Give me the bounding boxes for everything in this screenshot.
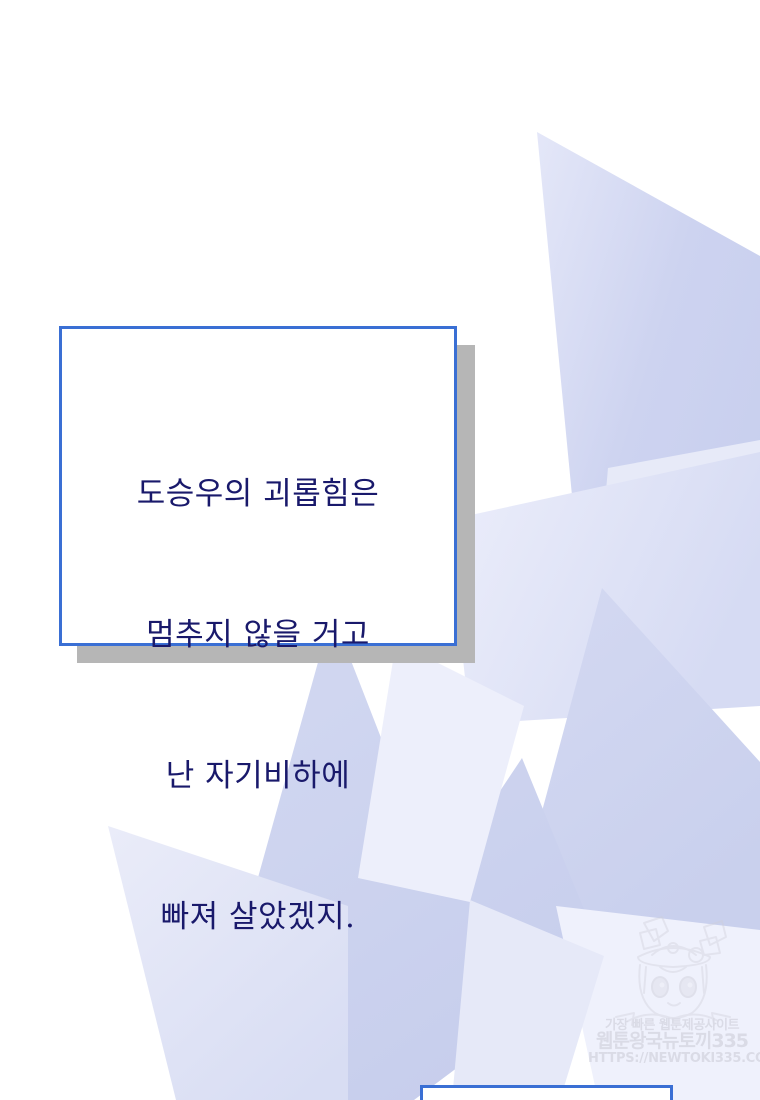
narration-line-2: 멈추지 않을 거고 <box>62 612 454 659</box>
narration-box: 도승우의 괴롭힘은 멈추지 않을 거고 난 자기비하에 빠져 살았겠지. <box>59 326 457 646</box>
webtoon-panel: 도승우의 괴롭힘은 멈추지 않을 거고 난 자기비하에 빠져 살았겠지. <box>0 0 760 1100</box>
narration-text: 도승우의 괴롭힘은 멈추지 않을 거고 난 자기비하에 빠져 살았겠지. <box>62 377 454 1035</box>
next-panel-box <box>420 1085 673 1100</box>
narration-line-3: 난 자기비하에 <box>62 753 454 800</box>
narration-line-1: 도승우의 괴롭힘은 <box>62 471 454 518</box>
narration-line-4: 빠져 살았겠지. <box>62 894 454 941</box>
